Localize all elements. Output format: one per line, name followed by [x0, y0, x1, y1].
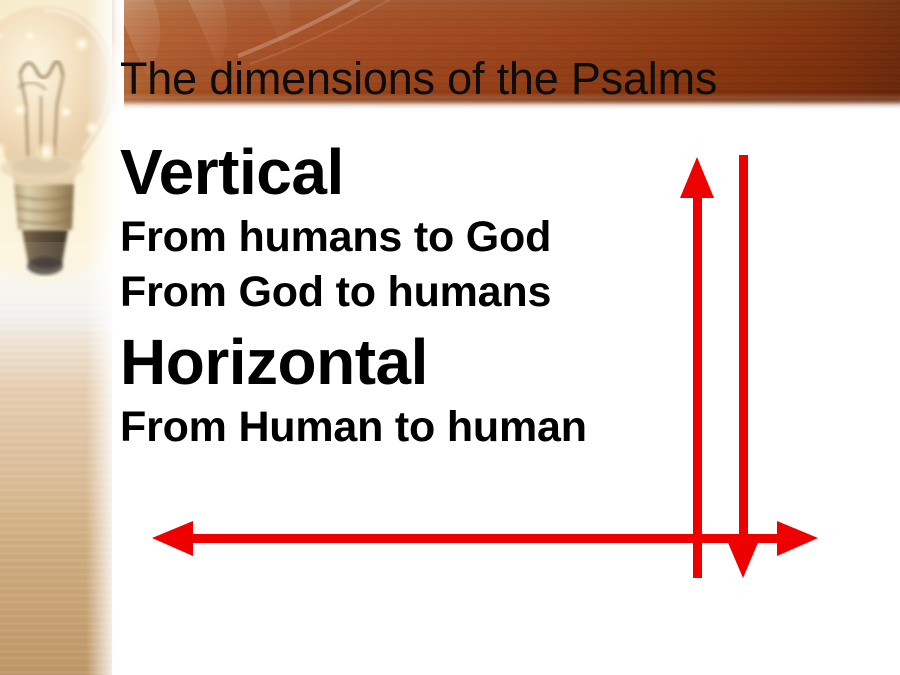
- slide-canvas: The dimensions of the Psalms Vertical Fr…: [0, 0, 900, 675]
- sidebar-strip: [0, 0, 124, 675]
- body-line-from-human-to-human: From Human to human: [120, 400, 680, 455]
- body-line-from-god-to-humans: From God to humans: [120, 265, 680, 320]
- body-text-block: Vertical From humans to God From God to …: [120, 140, 680, 455]
- vertical-down-arrow: [726, 155, 760, 578]
- sidebar-right-fade: [86, 0, 124, 675]
- horizontal-double-arrow: [152, 521, 818, 556]
- body-heading-horizontal: Horizontal: [120, 330, 680, 394]
- body-line-from-humans-to-god: From humans to God: [120, 210, 680, 265]
- page-title: The dimensions of the Psalms: [120, 56, 717, 101]
- body-heading-vertical: Vertical: [120, 140, 680, 204]
- vertical-up-arrow: [680, 157, 714, 578]
